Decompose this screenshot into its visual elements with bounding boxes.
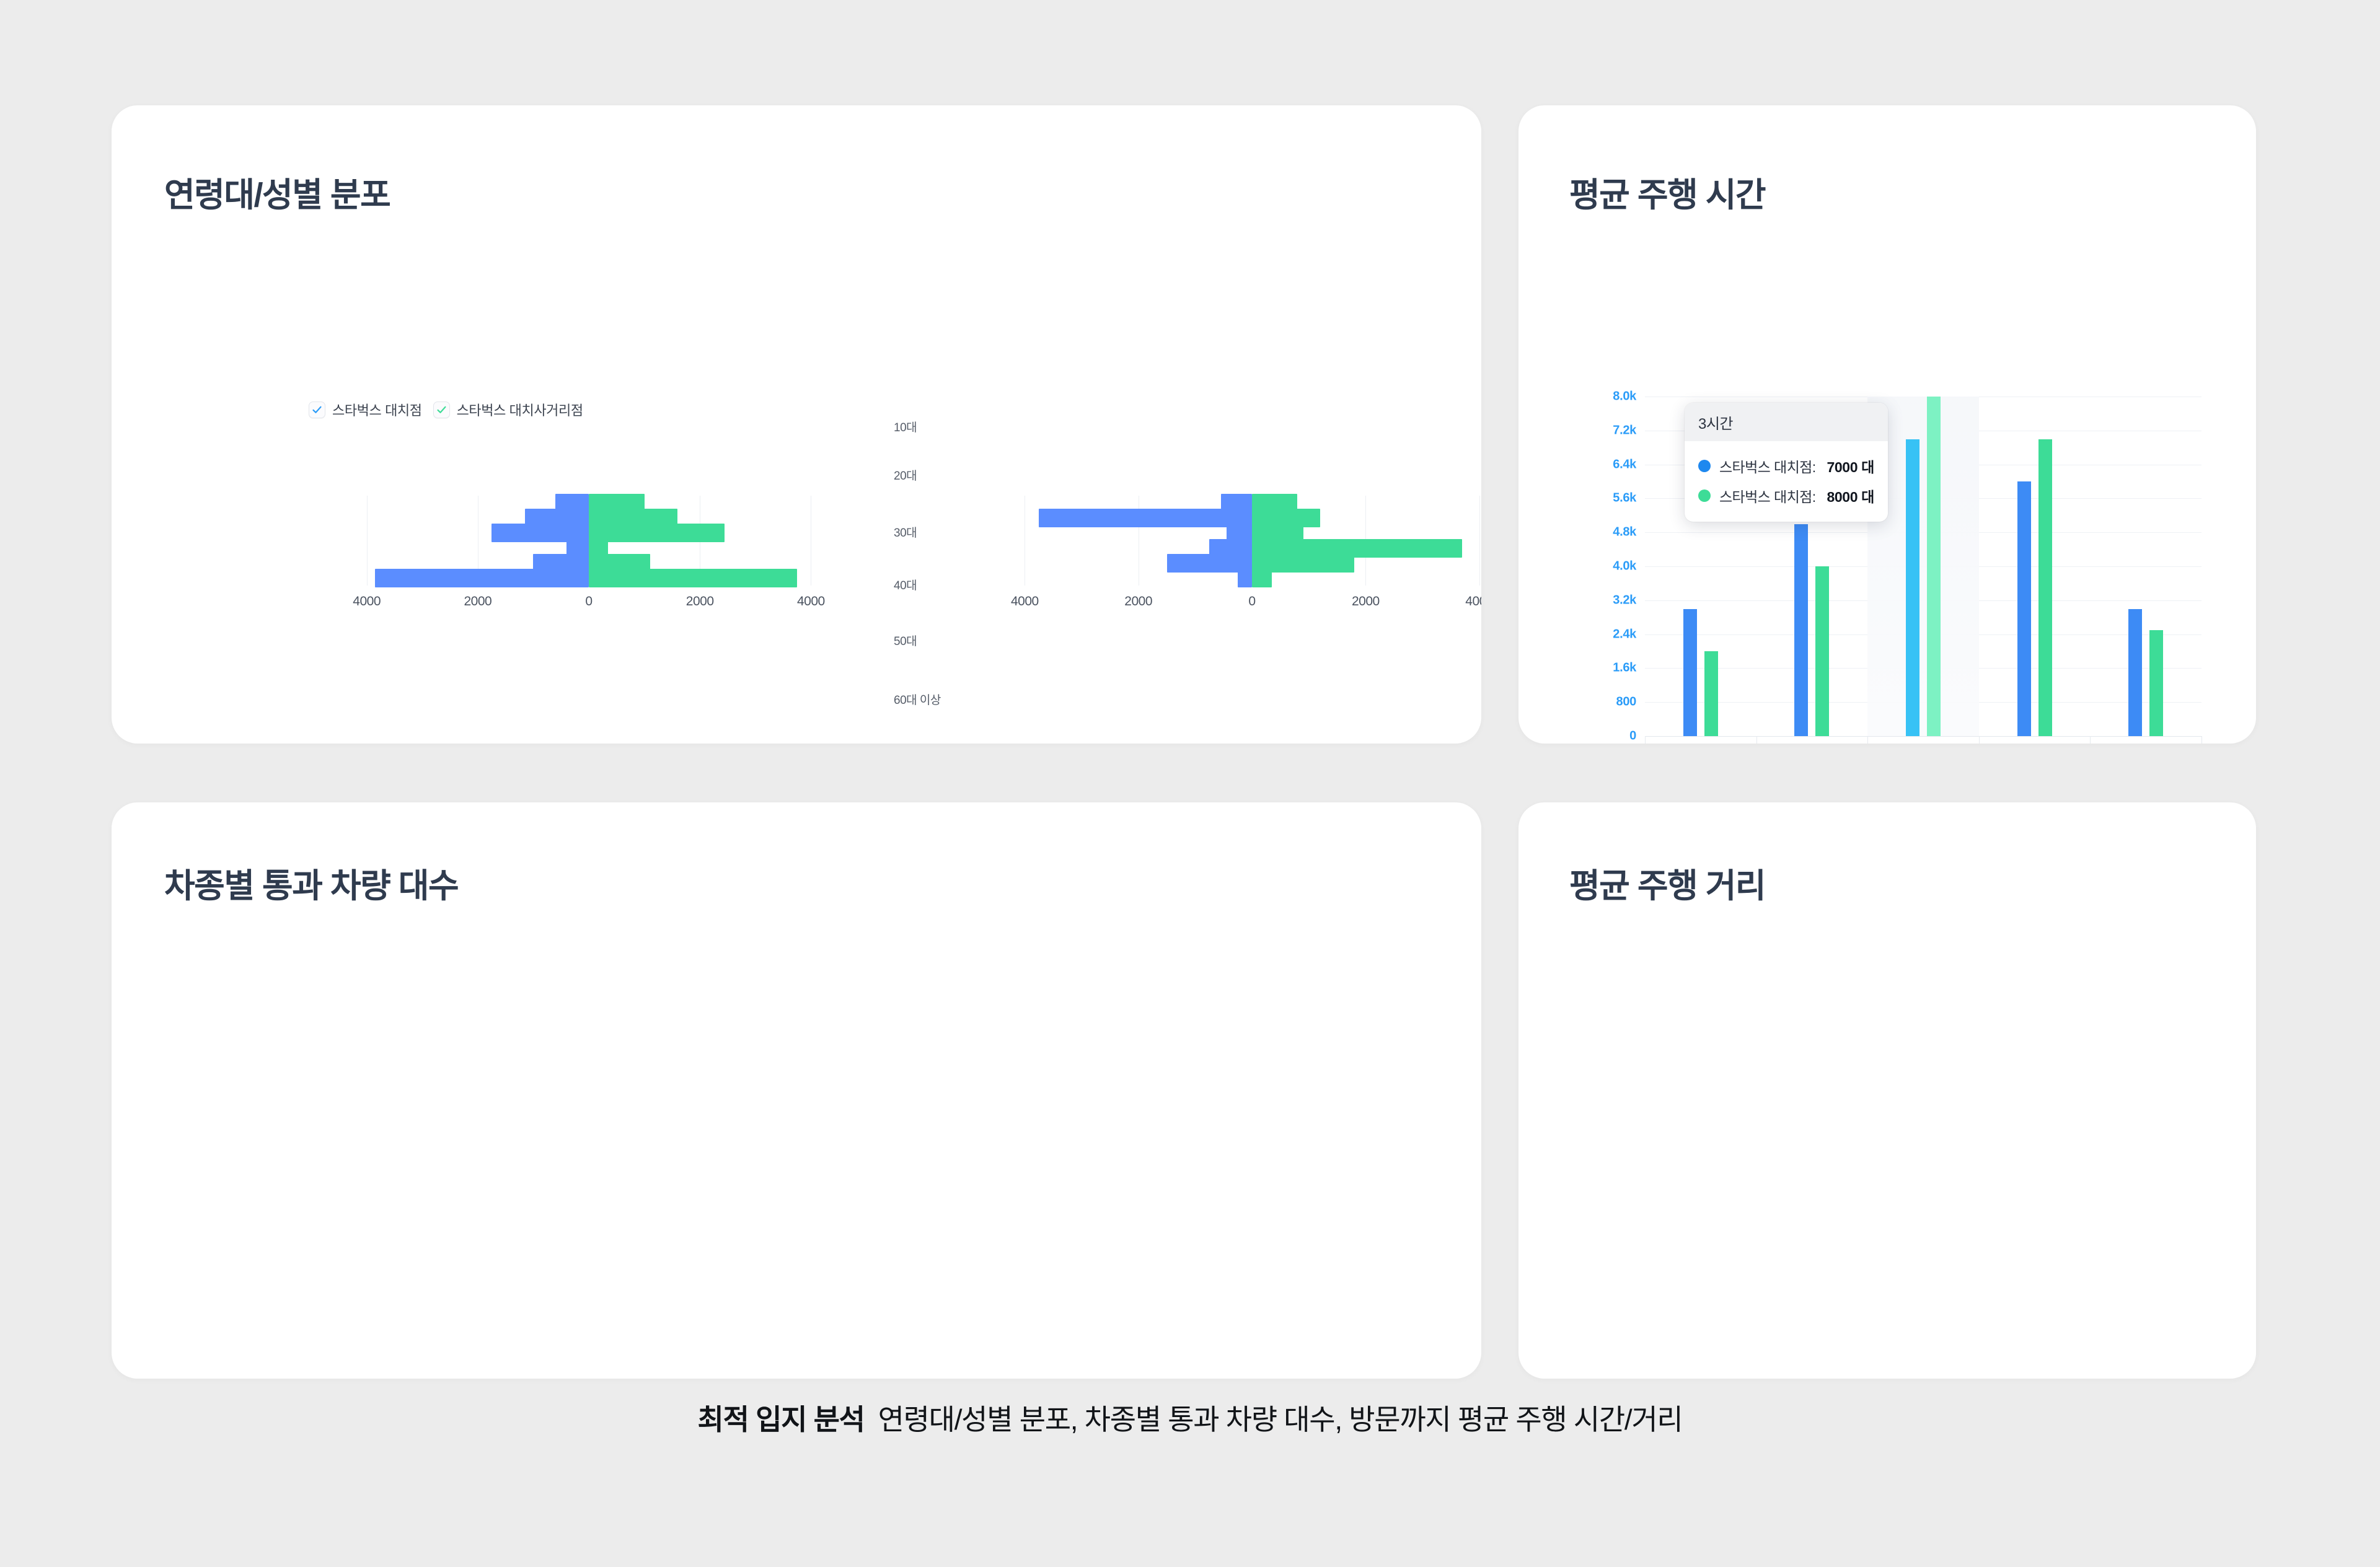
tooltip-drive-time: 3시간 스타벅스 대치점: 7000 대 스타벅스 대치점: 8000 대 (1685, 403, 1888, 522)
tooltip-title: 3시간 (1685, 403, 1888, 441)
butterfly-chart-right: 40002000020004000 (979, 496, 1481, 613)
dashboard-board: 연령대/성별 분포 스타벅스 대치점 스타벅스 대치사거리점 (0, 0, 2380, 1567)
bar-right (589, 569, 797, 587)
axis-tick-mark (2201, 736, 2202, 744)
axis-tick-mark (1645, 736, 1646, 744)
bar-right (1252, 569, 1272, 587)
tooltip-series-value: 7000 대 (1827, 455, 1874, 476)
y-axis-tick: 4.0k (1588, 560, 1636, 574)
bar[interactable] (1704, 651, 1718, 736)
legend-age-gender: 스타벅스 대치점 스타벅스 대치사거리점 (309, 400, 583, 419)
drive-time-chart: 08001.6k2.4k3.2k4.0k4.8k5.6k6.4k7.2k8.0k… (1588, 397, 2201, 744)
page-title-age-gender: 연령대/성별 분포 (164, 167, 390, 216)
tooltip-row: 스타벅스 대치점: 8000 대 (1698, 481, 1874, 511)
cards-grid: 연령대/성별 분포 스타벅스 대치점 스타벅스 대치사거리점 (112, 105, 2268, 1379)
y-axis-tick: 800 (1588, 695, 1636, 709)
age-category-labels: 10대20대30대40대50대60대 이상 (894, 418, 968, 666)
y-axis-tick: 1.6k (1588, 661, 1636, 675)
card-age-gender: 연령대/성별 분포 스타벅스 대치점 스타벅스 대치사거리점 (112, 105, 1481, 744)
bar[interactable] (2017, 481, 2031, 736)
age-category-label: 60대 이상 (894, 691, 941, 708)
tooltip-row: 스타벅스 대치점: 7000 대 (1698, 451, 1874, 481)
bar[interactable] (1906, 439, 1919, 737)
bar[interactable] (2149, 630, 2163, 736)
card-drive-time: 평균 주행 시간 08001.6k2.4k3.2k4.0k4.8k5.6k6.4… (1518, 105, 2256, 744)
bar[interactable] (1683, 609, 1697, 737)
legend-label: 스타벅스 대치점 (332, 400, 422, 419)
x-axis-tick: 4000 (353, 594, 381, 609)
tooltip-body: 스타벅스 대치점: 7000 대 스타벅스 대치점: 8000 대 (1685, 441, 1888, 522)
y-axis-tick: 2.4k (1588, 627, 1636, 641)
series-dot-icon (1698, 460, 1711, 472)
y-axis-tick: 7.2k (1588, 423, 1636, 437)
bar-left (375, 569, 589, 587)
checkbox-icon[interactable] (433, 402, 450, 418)
caption-title: 최적 입지 분석 (698, 1403, 865, 1436)
series-dot-icon (1698, 489, 1711, 502)
bar[interactable] (2038, 439, 2052, 737)
x-axis-tick: 2000 (1124, 594, 1152, 609)
x-axis-tick: 4000 (797, 594, 825, 609)
butterfly-row (979, 569, 1481, 587)
tooltip-series-name: 스타벅스 대치점: (1719, 455, 1816, 476)
bar[interactable] (1815, 566, 1829, 736)
checkbox-icon[interactable] (309, 402, 325, 418)
legend-item-0[interactable]: 스타벅스 대치점 (309, 400, 422, 419)
bar[interactable] (2128, 609, 2142, 737)
x-axis-tick: 2000 (1352, 594, 1380, 609)
bar[interactable] (1794, 524, 1808, 737)
y-axis-tick: 6.4k (1588, 457, 1636, 472)
dashboard-caption: 최적 입지 분석연령대/성별 분포, 차종별 통과 차량 대수, 방문까지 평균… (0, 1397, 2380, 1438)
caption-subtitle: 연령대/성별 분포, 차종별 통과 차량 대수, 방문까지 평균 주행 시간/거… (878, 1403, 1683, 1436)
x-axis-tick: 0 (1248, 594, 1255, 609)
legend-item-1[interactable]: 스타벅스 대치사거리점 (433, 400, 583, 419)
y-axis-tick: 5.6k (1588, 491, 1636, 506)
page-title-drive-time: 평균 주행 시간 (1569, 167, 1765, 216)
page-title-drive-distance: 평균 주행 거리 (1569, 858, 1765, 907)
tooltip-series-value: 8000 대 (1827, 485, 1874, 506)
bar-left (1238, 569, 1252, 587)
butterfly-chart-left: 40002000020004000 (322, 496, 855, 613)
axis-tick-mark (1867, 736, 1868, 744)
x-axis-tick: 4000 (1465, 594, 1481, 609)
axis-tick-mark (2090, 736, 2091, 744)
page-title-vehicle-types: 차종별 통과 차량 대수 (164, 858, 458, 907)
legend-label: 스타벅스 대치사거리점 (457, 400, 583, 419)
y-axis-tick: 0 (1588, 729, 1636, 744)
x-axis-tick: 4000 (1011, 594, 1039, 609)
tooltip-series-name: 스타벅스 대치점: (1719, 485, 1816, 506)
card-drive-distance: 평균 주행 거리 08001.6k2.4k3.2k4.0k4.8k5.6k6.4… (1518, 802, 2256, 1379)
bar[interactable] (1927, 397, 1941, 736)
y-axis-tick: 4.8k (1588, 525, 1636, 540)
gridline (1645, 736, 2201, 737)
x-axis-tick: 2000 (686, 594, 714, 609)
age-category-label: 50대 (894, 632, 917, 649)
axis-tick-mark (1979, 736, 1980, 744)
x-axis-tick: 0 (585, 594, 592, 609)
axis-tick-mark (1756, 736, 1757, 744)
card-vehicle-types: 차종별 통과 차량 대수 스타벅스 A점 스타벅스 B점 01234567승용차… (112, 802, 1481, 1379)
y-axis-tick: 8.0k (1588, 390, 1636, 404)
age-category-label: 20대 (894, 467, 917, 483)
age-category-label: 40대 (894, 576, 917, 593)
butterfly-row (322, 569, 855, 587)
y-axis-tick: 3.2k (1588, 593, 1636, 607)
age-category-label: 30대 (894, 524, 917, 540)
x-axis-tick: 2000 (464, 594, 491, 609)
age-category-label: 10대 (894, 418, 917, 435)
